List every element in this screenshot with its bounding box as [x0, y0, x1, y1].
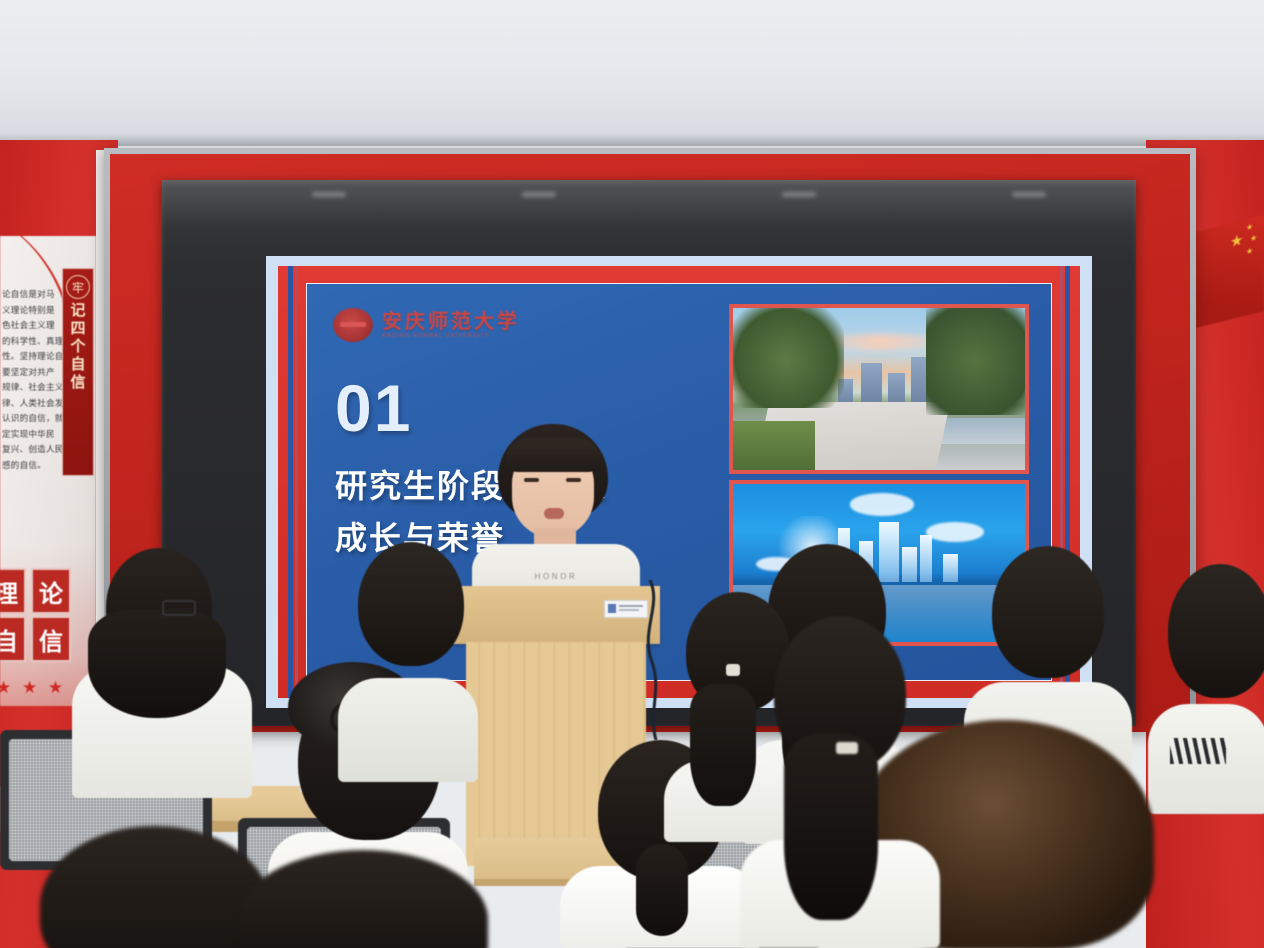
- flag-star-small-3: ★: [1246, 246, 1253, 257]
- banner-char-ge: 个: [70, 338, 85, 355]
- attendee-left-glasses: [62, 548, 262, 798]
- attendee-ponytail: [636, 844, 688, 936]
- presenter: HONOR: [468, 424, 644, 610]
- slide-section-number: 01: [335, 376, 412, 440]
- park-photo-art: [733, 308, 1025, 470]
- banner-char-xin: 信: [70, 374, 85, 391]
- banner-char-zi: 自: [70, 356, 85, 373]
- attendee-head: [992, 546, 1104, 678]
- attendee-head: [238, 850, 488, 948]
- hair-clip-icon: [836, 742, 858, 754]
- lecture-room-photo: 论自信是对马 义理论特别是 色社会主义理 的科学性、真理 性。坚持理论自 要坚定…: [0, 0, 1264, 948]
- slide-accent-stripe-left: [288, 266, 293, 698]
- attendee-right-ponytail: [740, 616, 940, 948]
- attendee-center-short: [338, 542, 478, 782]
- shirt-graphic-print: [1170, 738, 1226, 764]
- attendee-far-right: [1148, 564, 1264, 814]
- university-seal-icon: [333, 308, 373, 342]
- poster-badge-row-2: 自 信: [0, 616, 71, 662]
- lectern-top-surface: [452, 586, 660, 644]
- attendee-shirt: [338, 678, 478, 782]
- park-path-skyline-photo: [729, 304, 1029, 474]
- hair-tie-icon: [726, 664, 740, 676]
- attendee-head: [1168, 564, 1264, 698]
- university-name-en: ANQING NORMAL UNIVERSITY: [382, 332, 520, 341]
- slide-accent-stripe-left-2: [295, 266, 298, 698]
- poster-badge-li: 理: [0, 568, 26, 614]
- chinese-flag-icon: ★ ★ ★ ★: [1196, 215, 1264, 328]
- presenter-bangs: [506, 438, 600, 472]
- flag-star-small-1: ★: [1246, 222, 1253, 233]
- vertical-slogan-banner: 牢 记 四 个 自 信: [62, 268, 94, 476]
- poster-stars: ★ ★ ★: [0, 678, 66, 698]
- presenter-eye-left: [524, 478, 539, 482]
- poster-badge-row-1: 理 论: [0, 568, 71, 614]
- flag-star-small-2: ★: [1250, 233, 1257, 244]
- banner-char-ji: 记: [70, 302, 85, 319]
- attendee-bottom-center: [238, 850, 488, 948]
- glasses-icon: [162, 600, 196, 616]
- university-logo: 安庆师范大学 ANQING NORMAL UNIVERSITY: [333, 308, 520, 342]
- shirt-brand-text: HONOR: [535, 572, 578, 581]
- ceiling: [0, 0, 1264, 146]
- attendee-head: [40, 826, 270, 948]
- flag-star-large: ★: [1230, 230, 1243, 251]
- presenter-mouth: [544, 508, 564, 519]
- bezel-highlight: [162, 180, 1136, 226]
- attendee-head: [358, 542, 464, 666]
- banner-seal-character: 牢: [66, 275, 90, 299]
- presenter-eye-right: [566, 478, 581, 482]
- university-name-cn: 安庆师范大学: [382, 310, 520, 332]
- attendee-ponytail: [784, 734, 878, 920]
- banner-char-si: 四: [70, 320, 85, 337]
- poster-badge-zi: 自: [0, 616, 26, 662]
- attendee-hair-length: [88, 610, 226, 718]
